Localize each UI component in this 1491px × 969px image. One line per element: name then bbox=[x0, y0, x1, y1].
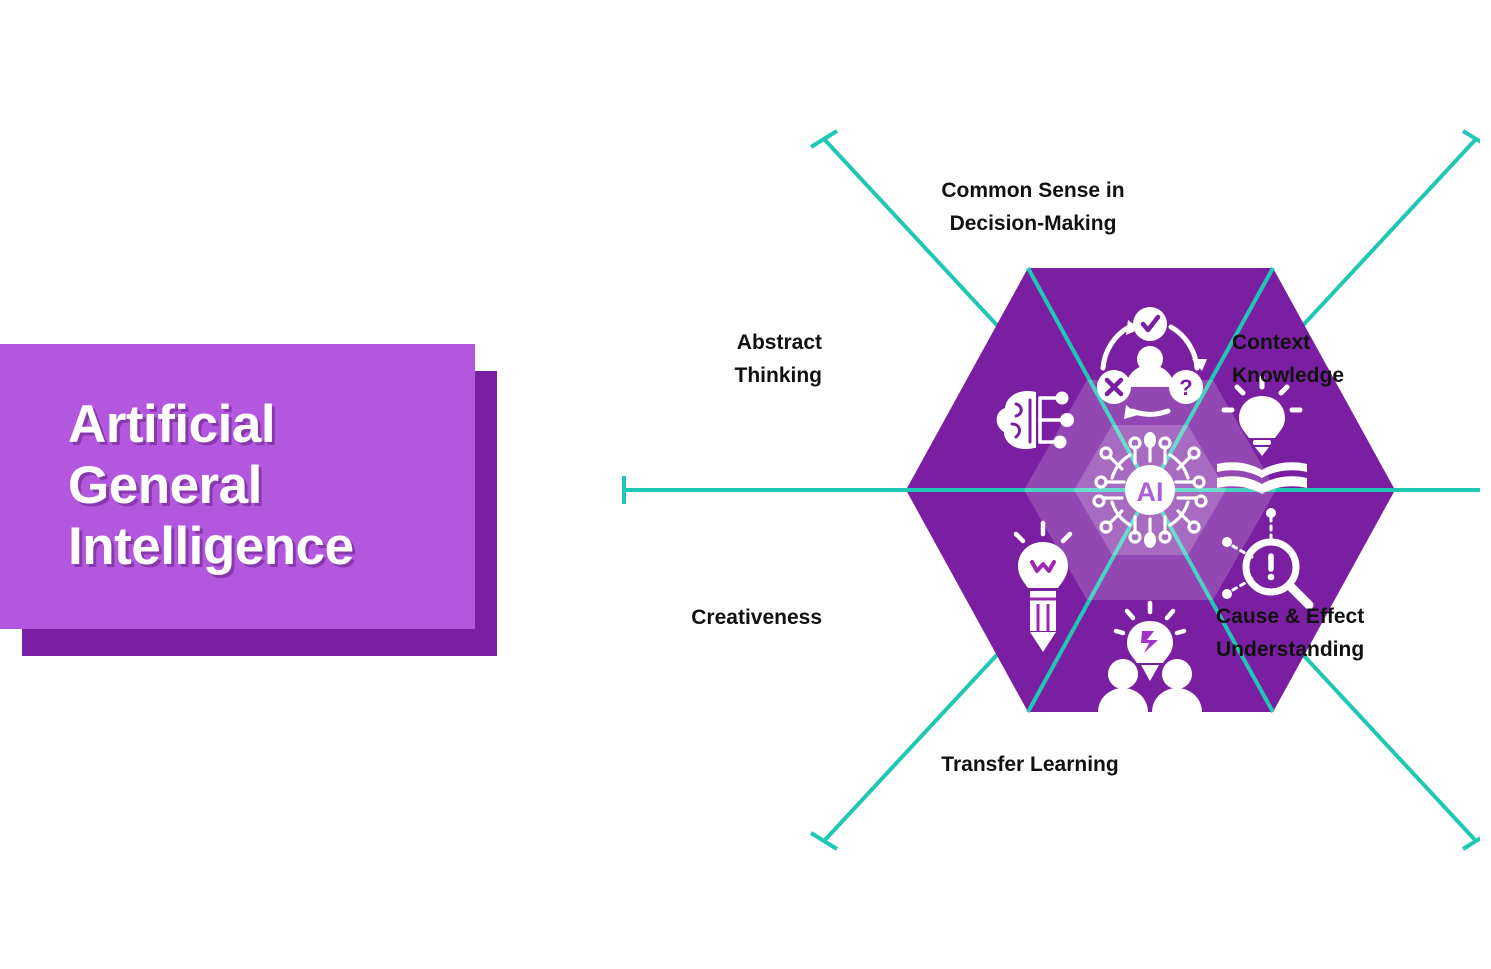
page-title: Artificial General Intelligence bbox=[0, 395, 354, 578]
label-abstract-thinking: Abstract Thinking bbox=[632, 327, 822, 392]
connector-cap-bottom-left bbox=[811, 833, 837, 849]
brain-circuit-icon bbox=[997, 391, 1074, 449]
label-common-sense: Common Sense in Decision-Making bbox=[888, 175, 1178, 240]
ai-center-label: AI bbox=[1137, 477, 1164, 507]
connector-cap-top-left bbox=[811, 131, 837, 147]
label-creativeness: Creativeness bbox=[600, 602, 822, 635]
infographic-canvas: Artificial General Intelligence bbox=[0, 0, 1491, 969]
label-cause-effect: Cause & Effect Understanding bbox=[1216, 601, 1426, 666]
label-transfer-learning: Transfer Learning bbox=[885, 749, 1175, 782]
title-panel: Artificial General Intelligence bbox=[0, 344, 475, 629]
label-context-knowledge: Context Knowledge bbox=[1232, 327, 1432, 392]
svg-text:?: ? bbox=[1179, 375, 1192, 400]
